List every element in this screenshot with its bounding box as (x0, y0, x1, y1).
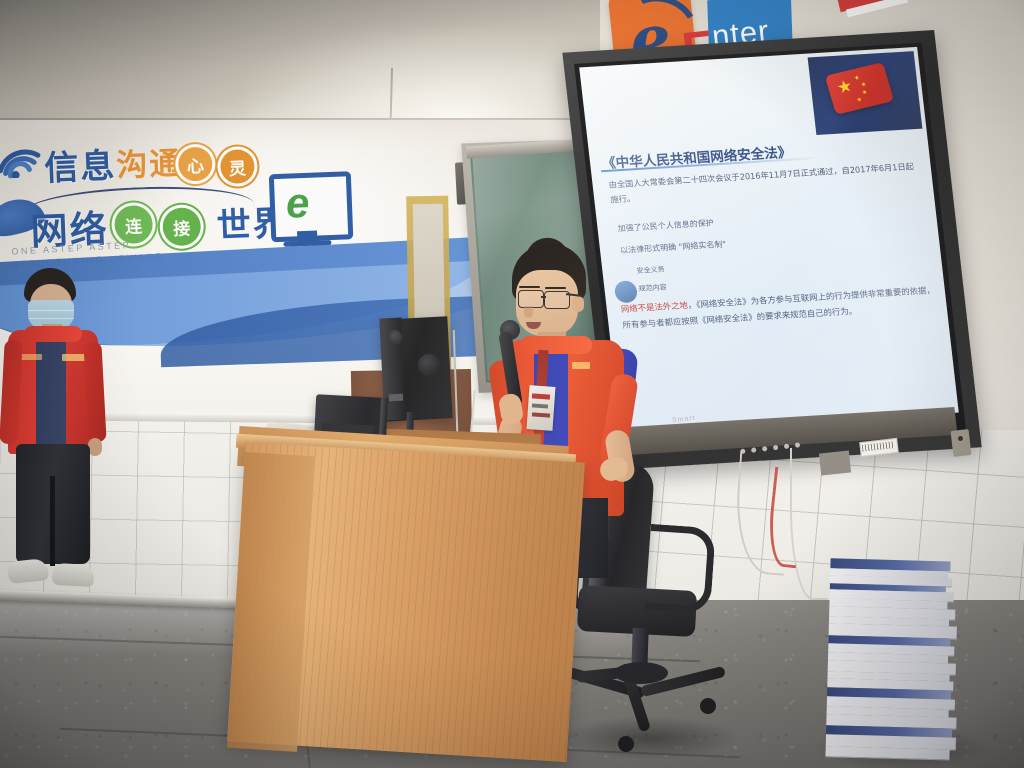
wifi-icon (0, 143, 43, 179)
ie-e-icon: e (285, 179, 310, 228)
masked-student-hand (88, 438, 102, 456)
smartboard-button-mute[interactable] (795, 442, 801, 448)
speaker-nose (524, 306, 533, 318)
speaker-vest-logo (572, 362, 590, 369)
masked-student-shoe-left (7, 558, 49, 584)
student-masked (2, 268, 124, 604)
speaker-ear (572, 296, 584, 312)
mural-badge-ling: 灵 (220, 149, 255, 184)
smartboard-button-plus[interactable] (784, 443, 790, 449)
glasses-bridge (541, 296, 546, 298)
chair-shadow (560, 716, 740, 760)
pants-leg-gap (50, 476, 55, 566)
mural-text-line1: 信息 (43, 138, 117, 190)
mural-badge-xin: 心 (178, 147, 213, 182)
classroom-photo: 信息 沟通 心 灵 网络 连 接 世界 e ONE ASTEP ASTEP ST… (0, 0, 1024, 768)
vest-logo-right (62, 354, 86, 361)
masked-student-vest-opening (36, 332, 66, 452)
masked-student-arm-right (83, 342, 106, 443)
chair-base-hub (614, 662, 668, 684)
masked-student-shoe-right (51, 563, 94, 587)
mask-pleat (28, 310, 74, 311)
paper-stack (825, 558, 962, 761)
paper-sheet (825, 746, 949, 760)
wall-key-switch[interactable] (951, 429, 972, 457)
mural-text-line1-orange: 沟通 (115, 138, 183, 186)
mural-badge-jie: 接 (162, 207, 201, 246)
mask-pleat (28, 318, 74, 319)
masked-student-vest-collar (24, 326, 82, 342)
chair-caster (700, 698, 716, 714)
chair-caster (618, 736, 634, 752)
pa-speaker-badge (389, 394, 403, 402)
speaker-vest-collar (520, 336, 592, 354)
vest-logo-left (20, 354, 42, 360)
smartboard-button-menu[interactable] (762, 446, 768, 452)
smartboard-button-minus[interactable] (773, 444, 779, 450)
